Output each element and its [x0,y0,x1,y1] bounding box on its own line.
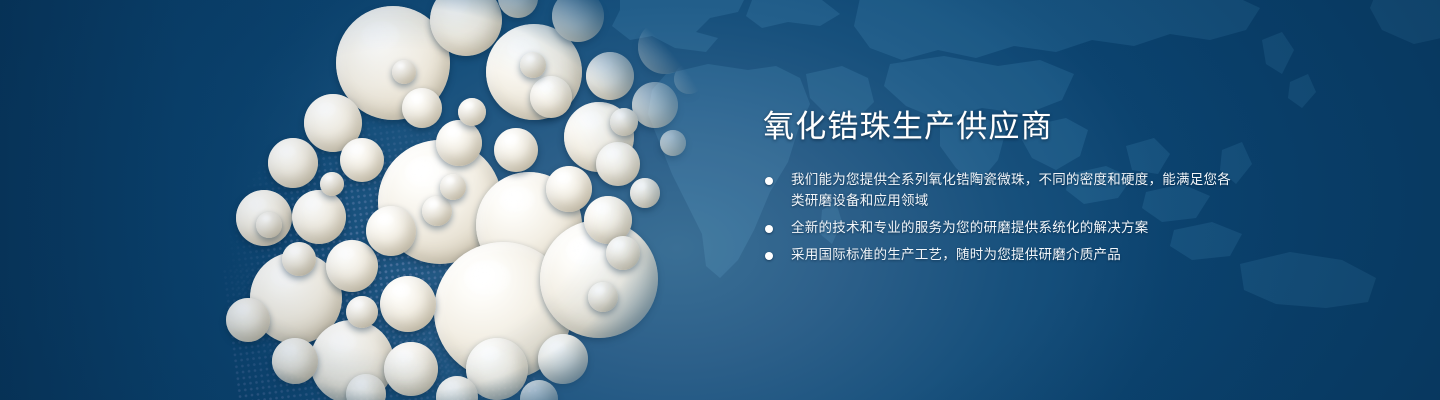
bullet-dot-icon [765,177,773,185]
feature-list: 我们能为您提供全系列氧化锆陶瓷微珠，不同的密度和硬度，能满足您各类研磨设备和应用… [765,170,1235,266]
bullet-dot-icon [765,225,773,233]
bullet-dot-icon [765,252,773,260]
list-item-text: 采用国际标准的生产工艺，随时为您提供研磨介质产品 [791,247,1121,263]
page-title: 氧化锆珠生产供应商 [763,110,1053,144]
hero-banner: 氧化锆珠生产供应商 我们能为您提供全系列氧化锆陶瓷微珠，不同的密度和硬度，能满足… [0,0,1440,400]
list-item: 全新的技术和专业的服务为您的研磨提供系统化的解决方案 [765,218,1235,239]
list-item-text: 全新的技术和专业的服务为您的研磨提供系统化的解决方案 [791,220,1149,236]
list-item-text: 我们能为您提供全系列氧化锆陶瓷微珠，不同的密度和硬度，能满足您各类研磨设备和应用… [791,172,1231,209]
list-item: 我们能为您提供全系列氧化锆陶瓷微珠，不同的密度和硬度，能满足您各类研磨设备和应用… [765,170,1235,212]
list-item: 采用国际标准的生产工艺，随时为您提供研磨介质产品 [765,245,1235,266]
banner-copy: 氧化锆珠生产供应商 我们能为您提供全系列氧化锆陶瓷微珠，不同的密度和硬度，能满足… [763,0,1323,400]
